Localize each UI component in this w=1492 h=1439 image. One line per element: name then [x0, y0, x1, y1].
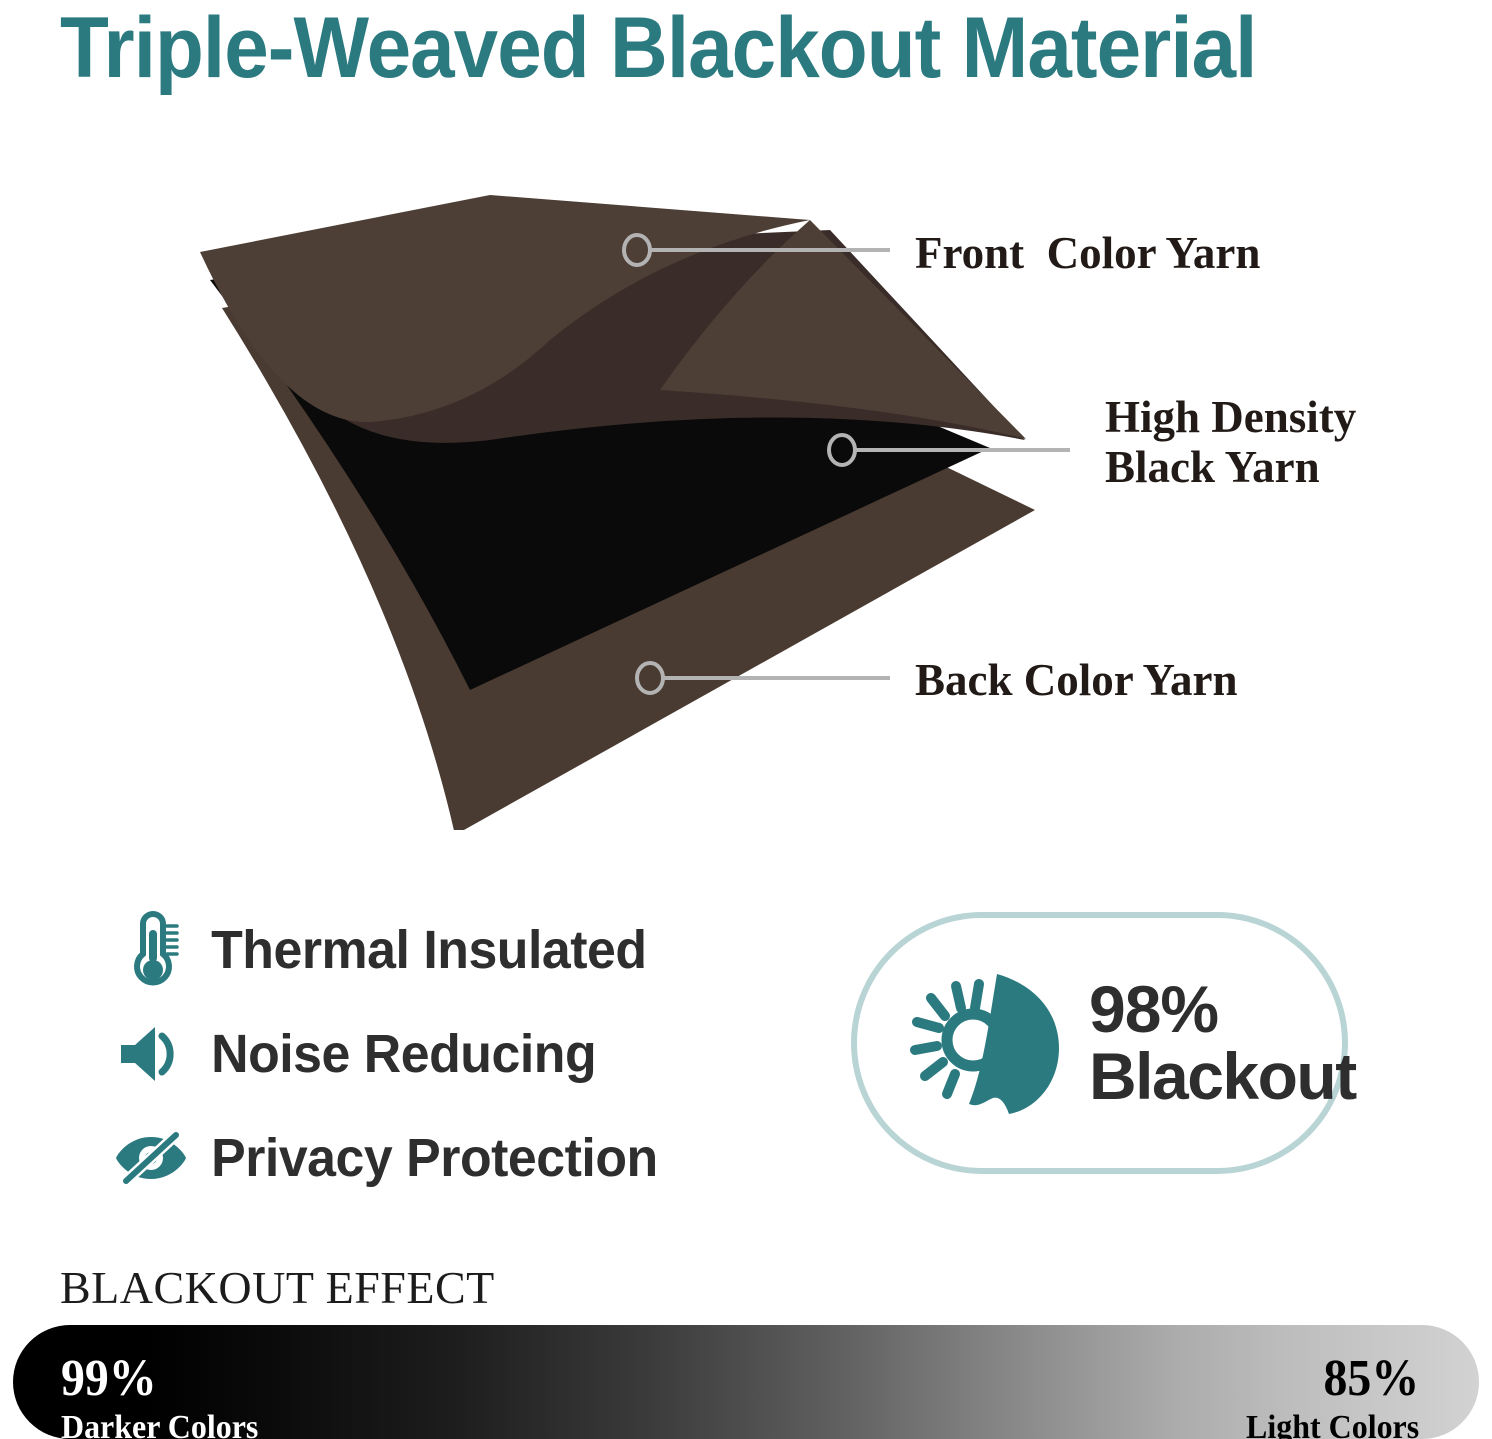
label-back-color-yarn: Back Color Yarn — [915, 655, 1238, 705]
label-high-density-black-yarn: High Density Black Yarn — [1105, 392, 1356, 493]
feature-item-privacy-protection: Privacy Protection — [112, 1108, 812, 1208]
badge-text-block: 98% Blackout — [1089, 976, 1356, 1111]
blackout-effect-gradient-bar: 99% Darker Colors 85% Light Colors — [13, 1325, 1479, 1439]
effect-stat-darker-colors: 99% Darker Colors — [61, 1353, 271, 1439]
badge-percent: 98% — [1089, 976, 1356, 1043]
blackout-badge: 98% Blackout — [851, 912, 1348, 1174]
badge-word: Blackout — [1089, 1043, 1356, 1110]
label-front-color-yarn: Front Color Yarn — [915, 228, 1260, 278]
effect-sublabel-darker: Darker Colors — [61, 1411, 258, 1439]
effect-percent-darker: 99% — [61, 1353, 254, 1405]
feature-item-thermal-insulated: Thermal Insulated — [112, 900, 812, 1000]
eye-slash-icon — [112, 1116, 190, 1200]
blackout-effect-heading: BLACKOUT EFFECT — [60, 1261, 495, 1314]
infographic-page: Triple-Weaved Blackout Material — [0, 0, 1492, 1439]
feature-item-noise-reducing: Noise Reducing — [112, 1004, 812, 1104]
fabric-layers-diagram — [190, 190, 1070, 830]
sun-behind-curtain-icon — [899, 958, 1079, 1128]
speaker-wave-icon — [112, 1012, 190, 1096]
feature-label: Privacy Protection — [190, 1127, 658, 1189]
feature-label: Noise Reducing — [190, 1023, 596, 1085]
effect-percent-light: 85% — [1250, 1353, 1419, 1405]
page-title: Triple-Weaved Blackout Material — [60, 2, 1362, 94]
effect-stat-light-colors: 85% Light Colors — [1235, 1353, 1419, 1439]
feature-label: Thermal Insulated — [190, 919, 647, 981]
thermometer-icon — [112, 908, 190, 992]
feature-list: Thermal Insulated Noise Reducing — [112, 900, 812, 1212]
effect-sublabel-light: Light Colors — [1246, 1411, 1419, 1439]
